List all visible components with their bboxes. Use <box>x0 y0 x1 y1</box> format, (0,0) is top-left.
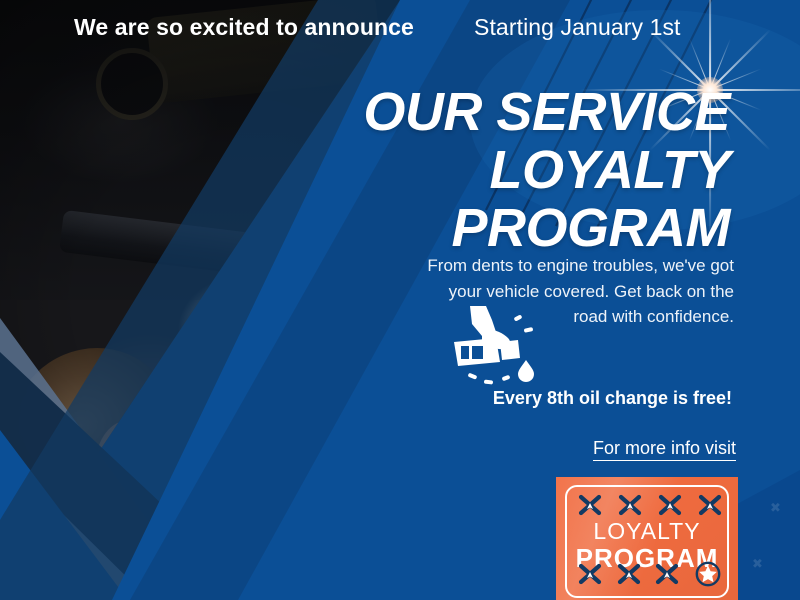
offer-text: Every 8th oil change is free! <box>392 388 732 409</box>
stamp-x-icon <box>654 563 680 585</box>
mini-sparkle-3: ✖ <box>770 500 781 516</box>
stamp-row-bottom <box>577 561 723 587</box>
card-title-loyalty: LOYALTY <box>556 518 738 545</box>
stamp-x-icon <box>657 494 683 516</box>
stamp-row-top <box>577 493 723 517</box>
oil-can-pour-icon <box>452 302 548 388</box>
headline-line-2: LOYALTY <box>310 141 730 199</box>
headline-line-1: OUR SERVICE <box>310 83 730 141</box>
stamp-x-icon <box>617 494 643 516</box>
headline-line-3: PROGRAM <box>310 199 730 257</box>
mini-sparkle-2: ✖ <box>752 556 763 572</box>
loyalty-card: LOYALTY PROGRAM <box>556 477 738 600</box>
more-info-link[interactable]: For more info visit <box>396 438 736 459</box>
start-date-text: Starting January 1st <box>474 14 681 41</box>
promotional-poster: We are so excited to announce Starting J… <box>0 0 800 600</box>
more-info-label: For more info visit <box>593 438 736 461</box>
photo-shop-background <box>230 470 560 600</box>
announcement-text: We are so excited to announce <box>74 14 414 41</box>
reward-star-stamp-icon <box>693 561 723 587</box>
photo-mechanic-glove <box>206 284 314 388</box>
stamp-x-icon <box>577 563 603 585</box>
photo-mechanic-arm <box>171 323 317 587</box>
stamp-x-icon <box>577 494 603 516</box>
stamp-x-icon <box>616 563 642 585</box>
stamp-x-icon <box>697 494 723 516</box>
